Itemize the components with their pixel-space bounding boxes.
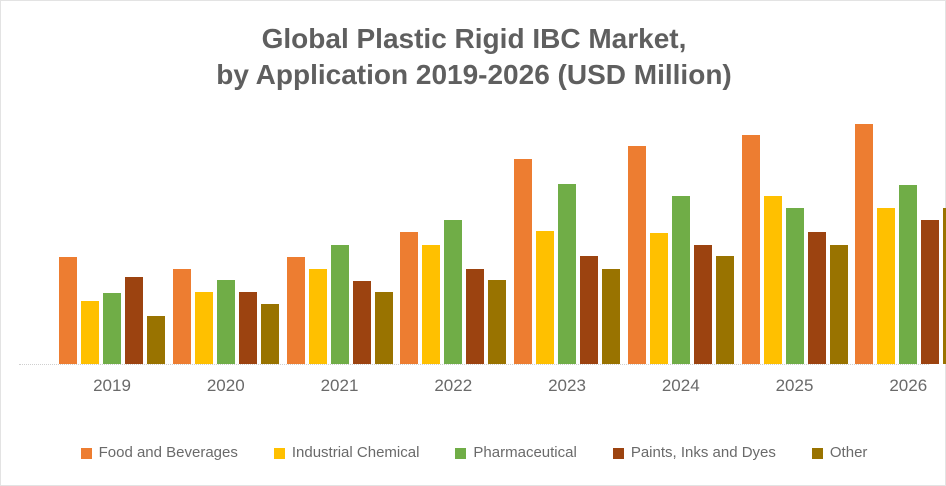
bar-2022-series-0 <box>400 232 418 364</box>
bar-group-2019 <box>59 111 165 364</box>
bar-2025-series-0 <box>742 135 760 364</box>
chart-container: Global Plastic Rigid IBC Market, by Appl… <box>0 0 946 486</box>
bar-2019-series-4 <box>147 316 165 364</box>
bar-2026-series-0 <box>855 124 873 364</box>
bar-2021-series-1 <box>309 269 327 364</box>
bar-2020-series-4 <box>261 304 279 364</box>
x-axis-label-2022: 2022 <box>398 375 508 397</box>
bar-2021-series-4 <box>375 292 393 364</box>
x-axis-label-2023: 2023 <box>512 375 622 397</box>
bar-2022-series-3 <box>466 269 484 364</box>
bar-2020-series-1 <box>195 292 213 364</box>
bar-2019-series-0 <box>59 257 77 364</box>
bar-2024-series-4 <box>716 256 734 364</box>
legend-item-1[interactable]: Industrial Chemical <box>274 444 420 462</box>
plot-area <box>19 111 929 364</box>
x-axis-category-labels: 20192020202120222023202420252026 <box>19 375 929 399</box>
bar-2019-series-3 <box>125 277 143 364</box>
bar-2021-series-0 <box>287 257 305 364</box>
bar-2025-series-4 <box>830 245 848 364</box>
legend-swatch-icon-1 <box>274 448 285 459</box>
bar-group-2026 <box>855 111 946 364</box>
bar-2021-series-2 <box>331 245 349 364</box>
bar-2023-series-2 <box>558 184 576 364</box>
x-axis-label-2021: 2021 <box>285 375 395 397</box>
bar-group-2025 <box>742 111 848 364</box>
legend-label-3: Paints, Inks and Dyes <box>631 444 776 462</box>
bar-2025-series-3 <box>808 232 826 364</box>
legend-label-1: Industrial Chemical <box>292 444 420 462</box>
bar-2020-series-2 <box>217 280 235 364</box>
bar-group-2020 <box>173 111 279 364</box>
bar-2024-series-1 <box>650 233 668 364</box>
x-axis-label-2025: 2025 <box>740 375 850 397</box>
bar-2025-series-2 <box>786 208 804 364</box>
x-axis-line <box>19 364 929 365</box>
bar-group-2024 <box>628 111 734 364</box>
bar-2025-series-1 <box>764 196 782 364</box>
bar-2019-series-1 <box>81 301 99 364</box>
legend-item-4[interactable]: Other <box>812 444 868 462</box>
bar-2024-series-3 <box>694 245 712 364</box>
legend-label-2: Pharmaceutical <box>473 444 576 462</box>
bar-2022-series-2 <box>444 220 462 364</box>
legend-swatch-icon-4 <box>812 448 823 459</box>
chart-legend: Food and BeveragesIndustrial ChemicalPha… <box>1 444 946 462</box>
chart-title: Global Plastic Rigid IBC Market, by Appl… <box>1 21 946 93</box>
bar-2020-series-0 <box>173 269 191 364</box>
legend-item-2[interactable]: Pharmaceutical <box>455 444 576 462</box>
x-axis-label-2020: 2020 <box>171 375 281 397</box>
bar-2021-series-3 <box>353 281 371 364</box>
bar-2023-series-3 <box>580 256 598 364</box>
x-axis-label-2026: 2026 <box>853 375 946 397</box>
bar-2023-series-4 <box>602 269 620 364</box>
x-axis-label-2024: 2024 <box>626 375 736 397</box>
bar-2022-series-1 <box>422 245 440 364</box>
legend-label-4: Other <box>830 444 868 462</box>
bar-2026-series-3 <box>921 220 939 364</box>
legend-item-3[interactable]: Paints, Inks and Dyes <box>613 444 776 462</box>
bar-2023-series-1 <box>536 231 554 364</box>
bar-2020-series-3 <box>239 292 257 364</box>
legend-swatch-icon-0 <box>81 448 92 459</box>
bar-group-2021 <box>287 111 393 364</box>
legend-swatch-icon-2 <box>455 448 466 459</box>
bar-2024-series-2 <box>672 196 690 364</box>
legend-label-0: Food and Beverages <box>99 444 238 462</box>
bar-2024-series-0 <box>628 146 646 364</box>
bar-2023-series-0 <box>514 159 532 364</box>
legend-swatch-icon-3 <box>613 448 624 459</box>
bar-2019-series-2 <box>103 293 121 364</box>
chart-title-line-1: Global Plastic Rigid IBC Market, <box>1 21 946 57</box>
bar-group-2022 <box>400 111 506 364</box>
chart-title-line-2: by Application 2019-2026 (USD Million) <box>1 57 946 93</box>
bar-2026-series-1 <box>877 208 895 364</box>
bar-2022-series-4 <box>488 280 506 364</box>
x-axis-label-2019: 2019 <box>57 375 167 397</box>
legend-item-0[interactable]: Food and Beverages <box>81 444 238 462</box>
bar-2026-series-2 <box>899 185 917 364</box>
bar-group-2023 <box>514 111 620 364</box>
